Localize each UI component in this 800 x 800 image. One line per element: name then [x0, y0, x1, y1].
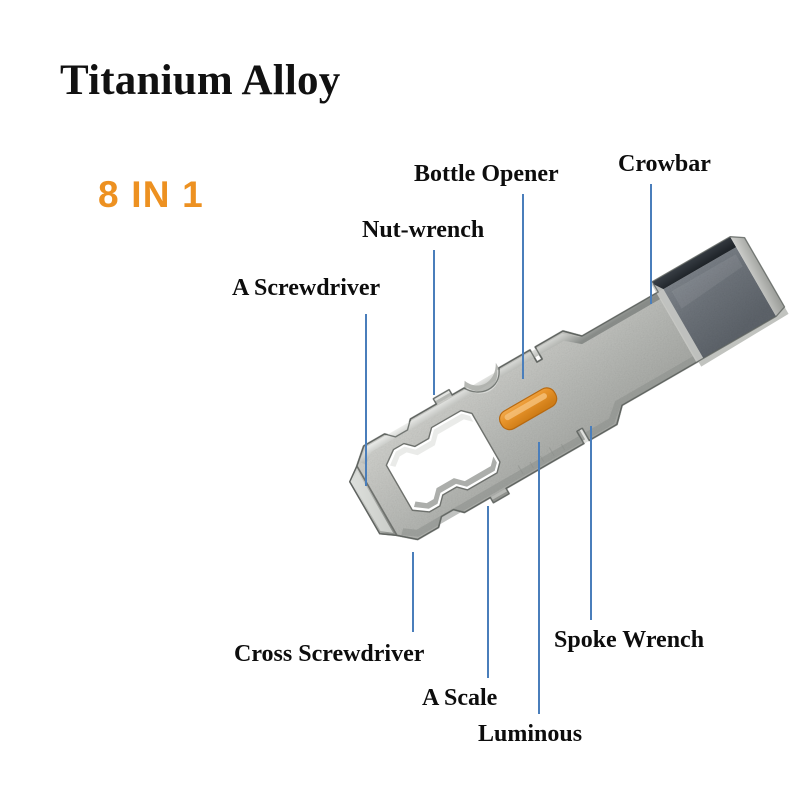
- callout-label-bottle-opener: Bottle Opener: [414, 162, 559, 187]
- multi-tool-illustration: [0, 0, 800, 800]
- callout-label-luminous: Luminous: [478, 722, 582, 747]
- callout-label-cross-screwdriver: Cross Screwdriver: [234, 642, 424, 667]
- leader-line-crowbar: [650, 184, 652, 304]
- leader-line-bottle-opener: [522, 194, 524, 379]
- callout-label-crowbar: Crowbar: [618, 152, 711, 177]
- leader-line-a-screwdriver: [365, 314, 367, 486]
- callout-label-a-scale: A Scale: [422, 686, 497, 711]
- leader-line-a-scale: [487, 506, 489, 678]
- callout-label-a-screwdriver: A Screwdriver: [232, 276, 380, 301]
- infographic-canvas: Titanium Alloy 8 IN 1 A Screwdriver Nut-…: [0, 0, 800, 800]
- callout-label-nut-wrench: Nut-wrench: [362, 218, 484, 243]
- callout-label-spoke-wrench: Spoke Wrench: [554, 628, 704, 653]
- leader-line-nut-wrench: [433, 250, 435, 395]
- feature-count-badge: 8 IN 1: [98, 176, 204, 213]
- page-title: Titanium Alloy: [60, 59, 340, 102]
- leader-line-luminous: [538, 442, 540, 714]
- leader-line-cross-screwdriver: [412, 552, 414, 632]
- leader-line-spoke-wrench: [590, 426, 592, 620]
